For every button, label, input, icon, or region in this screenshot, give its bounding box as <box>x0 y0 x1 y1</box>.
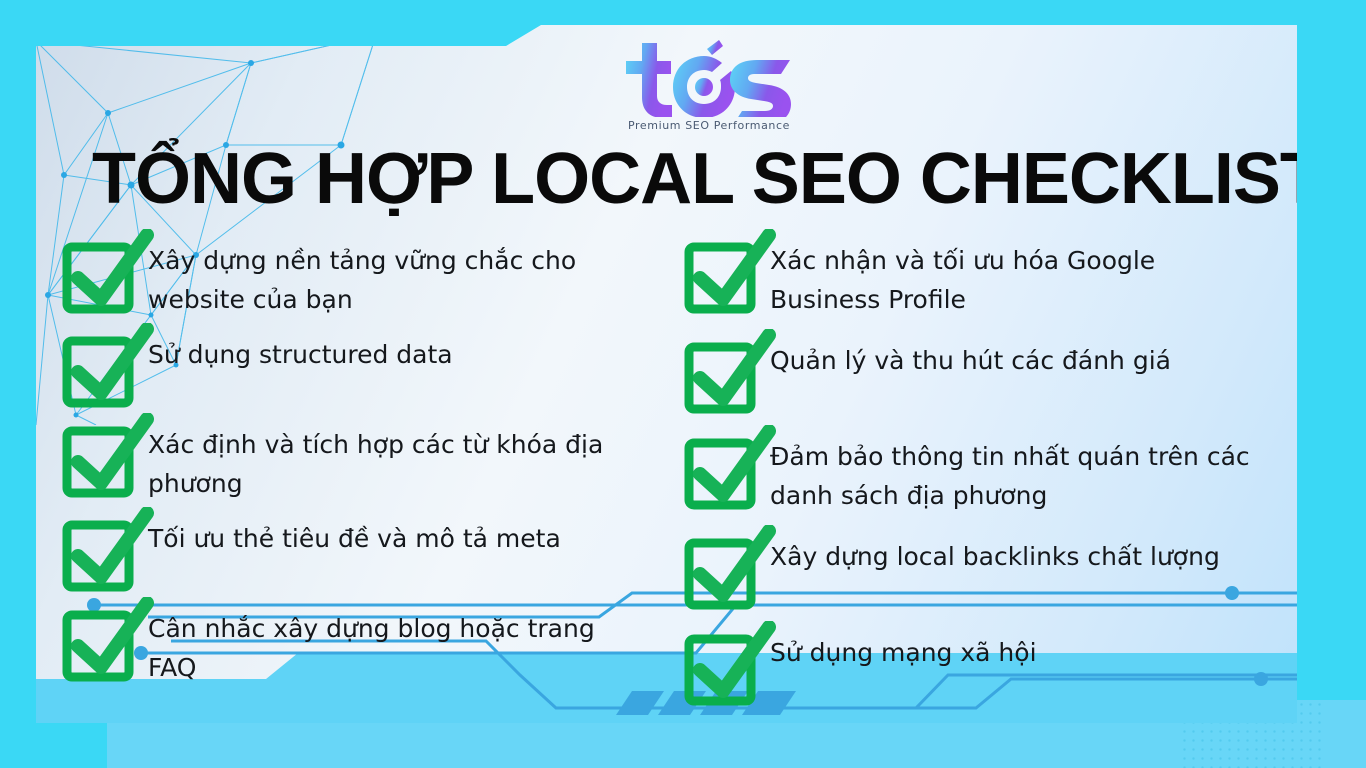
infographic-canvas: Premium SEO Performance TỔNG HỢP LOCAL S… <box>0 0 1366 768</box>
checkbox-checked-icon[interactable] <box>684 433 758 507</box>
list-item-label: Đảm bảo thông tin nhất quán trên các dan… <box>770 433 1270 515</box>
brand-logo: Premium SEO Performance <box>599 37 819 132</box>
list-item-label: Xác nhận và tối ưu hóa Google Business P… <box>770 237 1270 319</box>
list-item-label: Quản lý và thu hút các đánh giá <box>770 337 1171 380</box>
checklist-column-right: Xác nhận và tối ưu hóa Google Business P… <box>36 237 1297 723</box>
page-title: TỔNG HỢP LOCAL SEO CHECKLIST <box>92 137 1282 221</box>
checkbox-checked-icon[interactable] <box>684 533 758 607</box>
checklist-columns: Xây dựng nền tảng vững chắc cho website … <box>36 237 1297 723</box>
list-item[interactable]: Xây dựng local backlinks chất lượng <box>684 533 1297 611</box>
checkbox-checked-icon[interactable] <box>684 629 758 703</box>
list-item[interactable]: Đảm bảo thông tin nhất quán trên các dan… <box>684 433 1297 515</box>
content-panel: Premium SEO Performance TỔNG HỢP LOCAL S… <box>36 25 1297 723</box>
list-item[interactable]: Sử dụng mạng xã hội <box>684 629 1297 707</box>
logo-tagline: Premium SEO Performance <box>599 119 819 132</box>
list-item[interactable]: Quản lý và thu hút các đánh giá <box>684 337 1297 415</box>
list-item-label: Sử dụng mạng xã hội <box>770 629 1037 672</box>
checkbox-checked-icon[interactable] <box>684 237 758 311</box>
tos-logo-icon <box>624 37 794 117</box>
checkbox-checked-icon[interactable] <box>684 337 758 411</box>
list-item[interactable]: Xác nhận và tối ưu hóa Google Business P… <box>684 237 1297 319</box>
list-item-label: Xây dựng local backlinks chất lượng <box>770 533 1220 576</box>
